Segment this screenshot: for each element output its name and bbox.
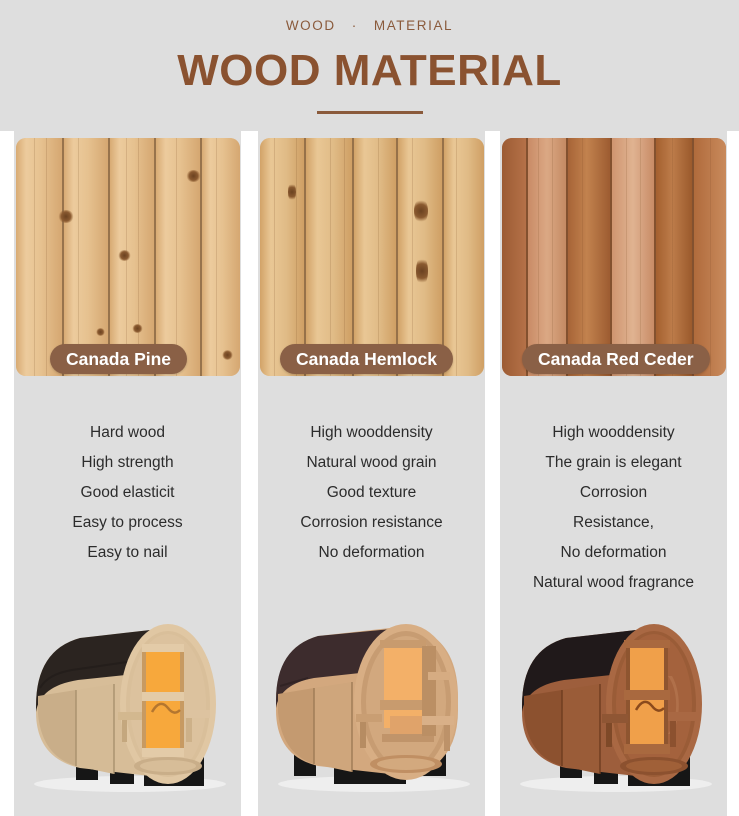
feature-item: No deformation	[500, 538, 727, 568]
column-canada-red-ceder: Canada Red Ceder High wooddensity The gr…	[500, 131, 727, 816]
feature-list-red-ceder: High wooddensity The grain is elegant Co…	[500, 418, 727, 598]
eyebrow-line: WOOD·MATERIAL	[0, 18, 739, 33]
column-canada-pine: Canada Pine Hard wood High strength Good…	[14, 131, 241, 816]
feature-item: Good elasticit	[14, 478, 241, 508]
title-underline-rule	[317, 111, 423, 114]
feature-item: Easy to nail	[14, 538, 241, 568]
eyebrow-separator-dot: ·	[352, 18, 358, 33]
page-title: WOOD MATERIAL	[0, 45, 739, 97]
eyebrow-right-text: MATERIAL	[374, 18, 453, 33]
wood-material-infographic: WOOD·MATERIAL WOOD MATERIAL	[0, 0, 739, 816]
feature-item: Good texture	[258, 478, 485, 508]
barrel-sauna-red-cedar-image	[504, 616, 724, 796]
red-cedar-wood-texture-image	[502, 138, 726, 376]
feature-item: Natural wood fragrance	[500, 568, 727, 598]
feature-item: Resistance,	[500, 508, 727, 538]
barrel-sauna-pine-image	[18, 616, 238, 796]
feature-item: Natural wood grain	[258, 448, 485, 478]
badge-canada-pine: Canada Pine	[50, 344, 187, 374]
eyebrow-left-text: WOOD	[286, 18, 336, 33]
feature-item: The grain is elegant	[500, 448, 727, 478]
feature-list-hemlock: High wooddensity Natural wood grain Good…	[258, 418, 485, 568]
feature-item: Easy to process	[14, 508, 241, 538]
column-canada-hemlock: Canada Hemlock High wooddensity Natural …	[258, 131, 485, 816]
feature-item: Corrosion resistance	[258, 508, 485, 538]
columns-board: Canada Pine Hard wood High strength Good…	[0, 131, 739, 816]
feature-item: No deformation	[258, 538, 485, 568]
badge-canada-hemlock: Canada Hemlock	[280, 344, 453, 374]
feature-list-pine: Hard wood High strength Good elasticit E…	[14, 418, 241, 568]
feature-item: Hard wood	[14, 418, 241, 448]
page-header: WOOD·MATERIAL WOOD MATERIAL	[0, 0, 739, 131]
feature-item: High strength	[14, 448, 241, 478]
pine-wood-texture-image	[16, 138, 240, 376]
feature-item: Corrosion	[500, 478, 727, 508]
barrel-sauna-hemlock-image	[262, 616, 482, 796]
badge-canada-red-ceder: Canada Red Ceder	[522, 344, 710, 374]
hemlock-wood-texture-image	[260, 138, 484, 376]
feature-item: High wooddensity	[258, 418, 485, 448]
feature-item: High wooddensity	[500, 418, 727, 448]
